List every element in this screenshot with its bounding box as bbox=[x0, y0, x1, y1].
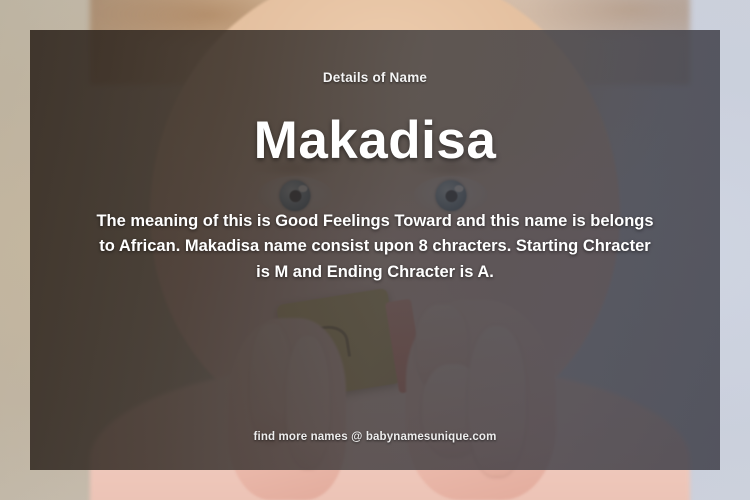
card-eyebrow-label: Details of Name bbox=[323, 70, 427, 85]
name-description-text: The meaning of this is Good Feelings Tow… bbox=[95, 209, 655, 286]
name-detail-card: Details of Name Makadisa The meaning of … bbox=[0, 0, 750, 500]
baby-name-title: Makadisa bbox=[254, 113, 497, 169]
content-overlay: Details of Name Makadisa The meaning of … bbox=[30, 30, 720, 470]
site-attribution-footer: find more names @ babynamesunique.com bbox=[30, 431, 720, 443]
